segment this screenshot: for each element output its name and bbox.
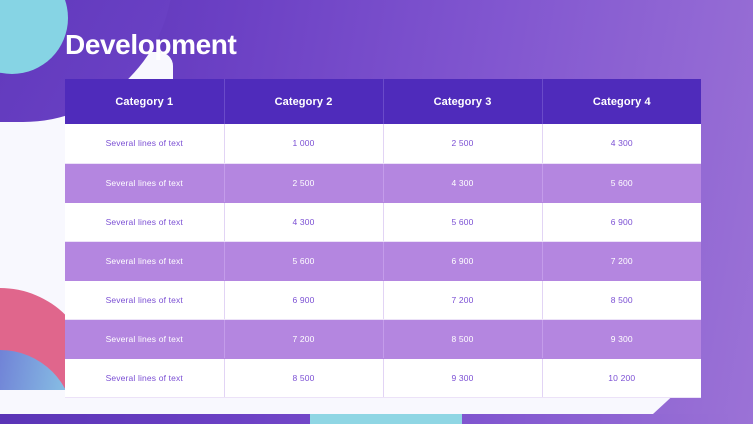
table-cell-label: Several lines of text xyxy=(65,202,224,241)
table-header-cell[interactable]: Category 4 xyxy=(542,79,701,124)
table-cell-label: Several lines of text xyxy=(65,241,224,280)
table-cell-value: 10 200 xyxy=(542,358,701,397)
table-cell-value: 2 500 xyxy=(383,124,542,163)
table-cell-value: 9 300 xyxy=(383,358,542,397)
table-cell-value: 7 200 xyxy=(542,241,701,280)
table-cell-label: Several lines of text xyxy=(65,319,224,358)
table-row[interactable]: Several lines of text 1 000 2 500 4 300 xyxy=(65,124,701,163)
table-header-cell[interactable]: Category 3 xyxy=(383,79,542,124)
table-cell-value: 1 000 xyxy=(224,124,383,163)
table-row[interactable]: Several lines of text 6 900 7 200 8 500 xyxy=(65,280,701,319)
table-cell-value: 6 900 xyxy=(383,241,542,280)
table-cell-value: 8 500 xyxy=(383,319,542,358)
table-row[interactable]: Several lines of text 8 500 9 300 10 200 xyxy=(65,358,701,397)
slide-canvas: Development Category 1 Category 2 Catego… xyxy=(0,0,753,424)
table-row[interactable]: Several lines of text 5 600 6 900 7 200 xyxy=(65,241,701,280)
table-cell-value: 5 600 xyxy=(383,202,542,241)
table-cell-label: Several lines of text xyxy=(65,163,224,202)
table-cell-value: 7 200 xyxy=(383,280,542,319)
table-cell-value: 4 300 xyxy=(542,124,701,163)
table-cell-label: Several lines of text xyxy=(65,280,224,319)
table-row[interactable]: Several lines of text 4 300 5 600 6 900 xyxy=(65,202,701,241)
table-cell-value: 8 500 xyxy=(542,280,701,319)
table-row[interactable]: Several lines of text 2 500 4 300 5 600 xyxy=(65,163,701,202)
table-cell-value: 9 300 xyxy=(542,319,701,358)
table-body: Several lines of text 1 000 2 500 4 300 … xyxy=(65,124,701,397)
table-cell-value: 7 200 xyxy=(224,319,383,358)
table-cell-value: 5 600 xyxy=(542,163,701,202)
table-cell-value: 6 900 xyxy=(224,280,383,319)
table-row[interactable]: Several lines of text 7 200 8 500 9 300 xyxy=(65,319,701,358)
table-cell-value: 4 300 xyxy=(224,202,383,241)
table-cell-value: 5 600 xyxy=(224,241,383,280)
table-header-cell[interactable]: Category 2 xyxy=(224,79,383,124)
table-cell-label: Several lines of text xyxy=(65,358,224,397)
table-header: Category 1 Category 2 Category 3 Categor… xyxy=(65,79,701,124)
page-title: Development xyxy=(65,28,236,62)
table-header-cell[interactable]: Category 1 xyxy=(65,79,224,124)
table-cell-value: 8 500 xyxy=(224,358,383,397)
table-cell-label: Several lines of text xyxy=(65,124,224,163)
table-cell-value: 2 500 xyxy=(224,163,383,202)
data-table-container: Category 1 Category 2 Category 3 Categor… xyxy=(65,79,701,398)
data-table: Category 1 Category 2 Category 3 Categor… xyxy=(65,79,701,398)
bottom-teal-accent xyxy=(310,414,462,424)
table-cell-value: 6 900 xyxy=(542,202,701,241)
table-header-row: Category 1 Category 2 Category 3 Categor… xyxy=(65,79,701,124)
table-cell-value: 4 300 xyxy=(383,163,542,202)
